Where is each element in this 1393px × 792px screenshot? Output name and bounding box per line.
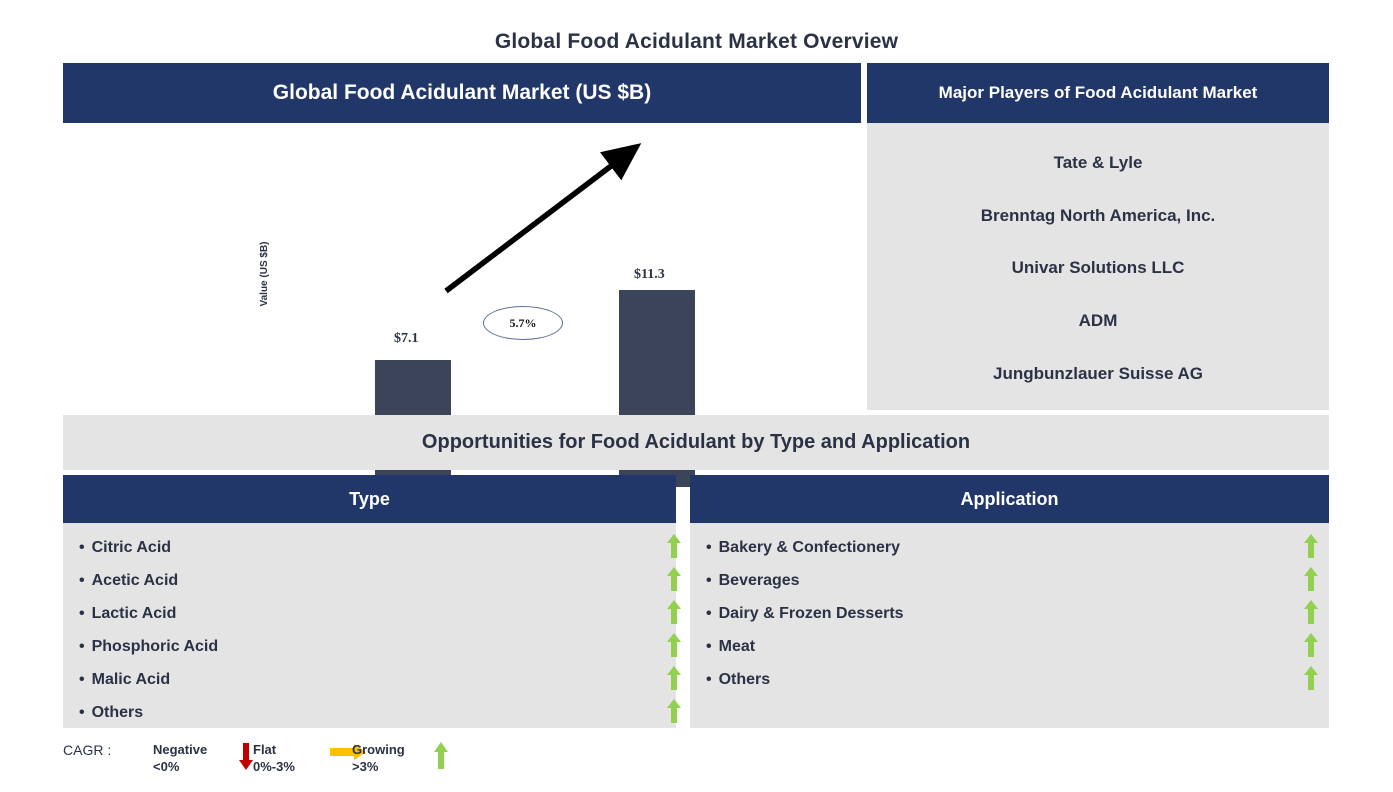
list-item: • Meat [690, 630, 1329, 663]
legend-negative-range: <0% [153, 758, 207, 775]
growing-arrow-icon [654, 665, 694, 696]
growing-arrow-icon [654, 599, 694, 630]
list-item: Brenntag North America, Inc. [981, 206, 1216, 226]
players-panel-header: Major Players of Food Acidulant Market [867, 63, 1329, 123]
growth-arrow-icon [63, 123, 861, 410]
legend-flat-range: 0%-3% [253, 758, 295, 775]
bar-value-2035: $11.3 [634, 267, 665, 283]
infographic-page: Global Food Acidulant Market Overview Gl… [0, 0, 1393, 792]
bullet-icon: • [79, 639, 85, 655]
market-chart-panel: Global Food Acidulant Market (US $B) Val… [63, 63, 861, 410]
opportunities-banner: Opportunities for Food Acidulant by Type… [63, 415, 1329, 470]
application-item-label: Beverages [719, 572, 800, 590]
type-panel-header: Type [63, 475, 676, 523]
growing-arrow-icon [1291, 566, 1331, 597]
bullet-icon: • [79, 540, 85, 556]
growing-arrow-icon [1291, 632, 1331, 663]
application-item-label: Dairy & Frozen Desserts [719, 605, 904, 623]
list-item: • Dairy & Frozen Desserts [690, 597, 1329, 630]
chart-panel-header: Global Food Acidulant Market (US $B) [63, 63, 861, 123]
bullet-icon: • [79, 606, 85, 622]
bullet-icon: • [79, 705, 85, 721]
growing-arrow-icon [654, 632, 694, 663]
legend-negative-label: Negative [153, 741, 207, 758]
page-title: Global Food Acidulant Market Overview [0, 30, 1393, 54]
type-item-label: Others [92, 704, 144, 722]
list-item: • Bakery & Confectionery [690, 531, 1329, 564]
bullet-icon: • [706, 672, 712, 688]
application-panel-header: Application [690, 475, 1329, 523]
growing-arrow-icon [1291, 533, 1331, 564]
application-panel: Application • Bakery & Confectionery • B… [690, 475, 1329, 728]
bullet-icon: • [706, 639, 712, 655]
type-panel: Type • Citric Acid • Acetic Acid • Lacti… [63, 475, 676, 728]
players-list: Tate & Lyle Brenntag North America, Inc.… [867, 123, 1329, 410]
legend-flat-label: Flat [253, 741, 295, 758]
type-item-label: Acetic Acid [92, 572, 179, 590]
type-item-label: Phosphoric Acid [92, 638, 219, 656]
type-item-label: Citric Acid [92, 539, 171, 557]
list-item: • Acetic Acid [63, 564, 676, 597]
bar-value-2026: $7.1 [394, 331, 419, 347]
application-list: • Bakery & Confectionery • Beverages • D… [690, 523, 1329, 696]
list-item: • Others [63, 696, 676, 729]
list-item: Jungbunzlauer Suisse AG [993, 364, 1203, 384]
bar-chart: Value (US $B) $7.1 $11.3 2026 2035 5.7% … [63, 123, 861, 410]
major-players-panel: Major Players of Food Acidulant Market T… [867, 63, 1329, 410]
cagr-legend: CAGR : Negative <0% Flat 0%-3% Growing >… [63, 738, 663, 786]
bullet-icon: • [79, 573, 85, 589]
cagr-bubble: 5.7% [483, 306, 563, 340]
negative-arrow-icon [238, 741, 254, 776]
growing-arrow-icon [1291, 665, 1331, 696]
legend-flat: Flat 0%-3% [253, 741, 295, 775]
bullet-icon: • [706, 540, 712, 556]
growing-arrow-icon [433, 741, 449, 776]
list-item: • Citric Acid [63, 531, 676, 564]
list-item: • Beverages [690, 564, 1329, 597]
legend-negative: Negative <0% [153, 741, 207, 775]
application-item-label: Bakery & Confectionery [719, 539, 900, 557]
legend-growing: Growing >3% [352, 741, 405, 775]
list-item: • Others [690, 663, 1329, 696]
growing-arrow-icon [1291, 599, 1331, 630]
type-list: • Citric Acid • Acetic Acid • Lactic Aci… [63, 523, 676, 729]
list-item: Univar Solutions LLC [1012, 258, 1185, 278]
growing-arrow-icon [654, 566, 694, 597]
list-item: Tate & Lyle [1054, 153, 1143, 173]
growing-arrow-icon [654, 533, 694, 564]
application-item-label: Meat [719, 638, 755, 656]
bullet-icon: • [706, 606, 712, 622]
cagr-legend-title: CAGR : [63, 742, 111, 758]
application-item-label: Others [719, 671, 771, 689]
list-item: • Malic Acid [63, 663, 676, 696]
type-item-label: Malic Acid [92, 671, 171, 689]
bullet-icon: • [706, 573, 712, 589]
bullet-icon: • [79, 672, 85, 688]
list-item: • Phosphoric Acid [63, 630, 676, 663]
chart-y-axis-label: Value (US $B) [259, 229, 270, 319]
type-item-label: Lactic Acid [92, 605, 177, 623]
legend-growing-range: >3% [352, 758, 405, 775]
list-item: • Lactic Acid [63, 597, 676, 630]
growing-arrow-icon [654, 698, 694, 729]
legend-growing-label: Growing [352, 741, 405, 758]
list-item: ADM [1079, 311, 1118, 331]
